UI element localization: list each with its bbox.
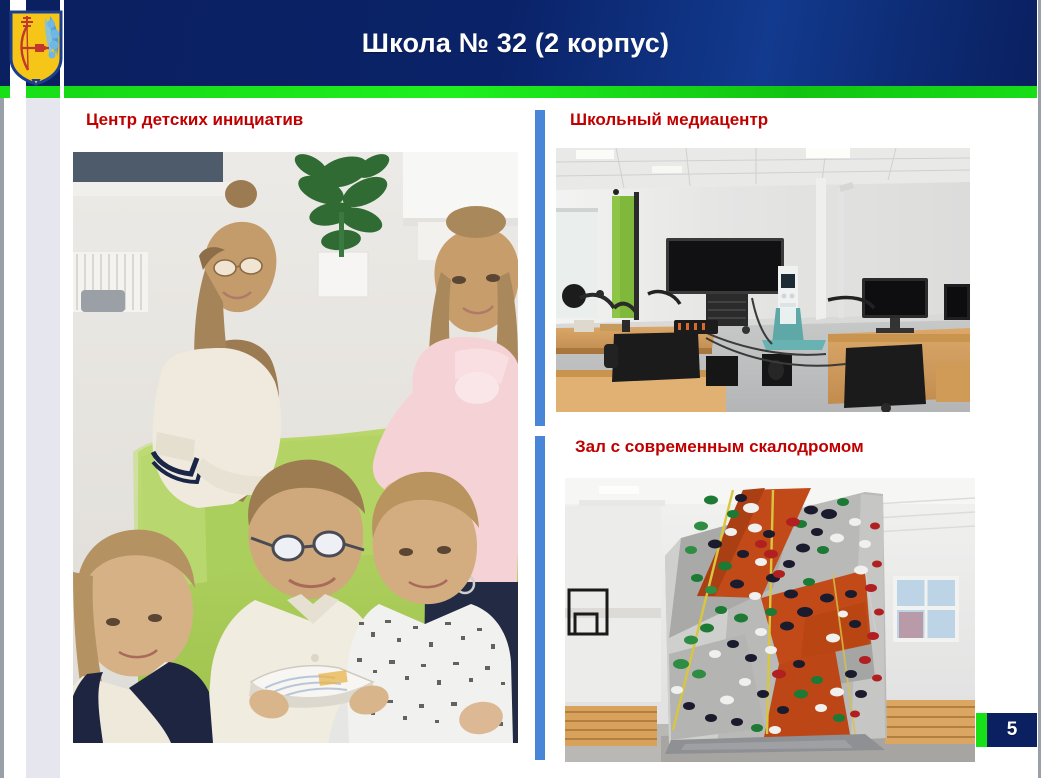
header-green-underline [64, 86, 1037, 98]
vertical-divider-top [535, 110, 545, 426]
vertical-divider-bottom [535, 436, 545, 760]
header-deco-green-1 [0, 86, 10, 98]
photo-center-initiatives [73, 152, 518, 743]
page-number-badge: 5 [987, 713, 1037, 747]
header-deco-green-2 [26, 86, 60, 98]
right-border-line [1038, 0, 1041, 778]
photo-climbing-hall [565, 478, 975, 762]
left-accent-strip [26, 96, 60, 778]
section-title-climbing-hall: Зал с современным скалодромом [575, 437, 864, 457]
slide: Школа № 32 (2 корпус) [0, 0, 1045, 778]
left-border-line [0, 0, 4, 778]
kirov-oblast-coat-of-arms-icon [9, 10, 63, 86]
page-title: Школа № 32 (2 корпус) [64, 28, 1037, 59]
photo-media-center [556, 148, 970, 412]
slide-header: Школа № 32 (2 корпус) [64, 0, 1037, 86]
section-title-media-center: Школьный медиацентр [570, 110, 768, 130]
section-title-center-initiatives: Центр детских инициатив [86, 110, 303, 130]
page-badge-green-tab [976, 713, 987, 747]
page-number: 5 [1007, 719, 1018, 741]
